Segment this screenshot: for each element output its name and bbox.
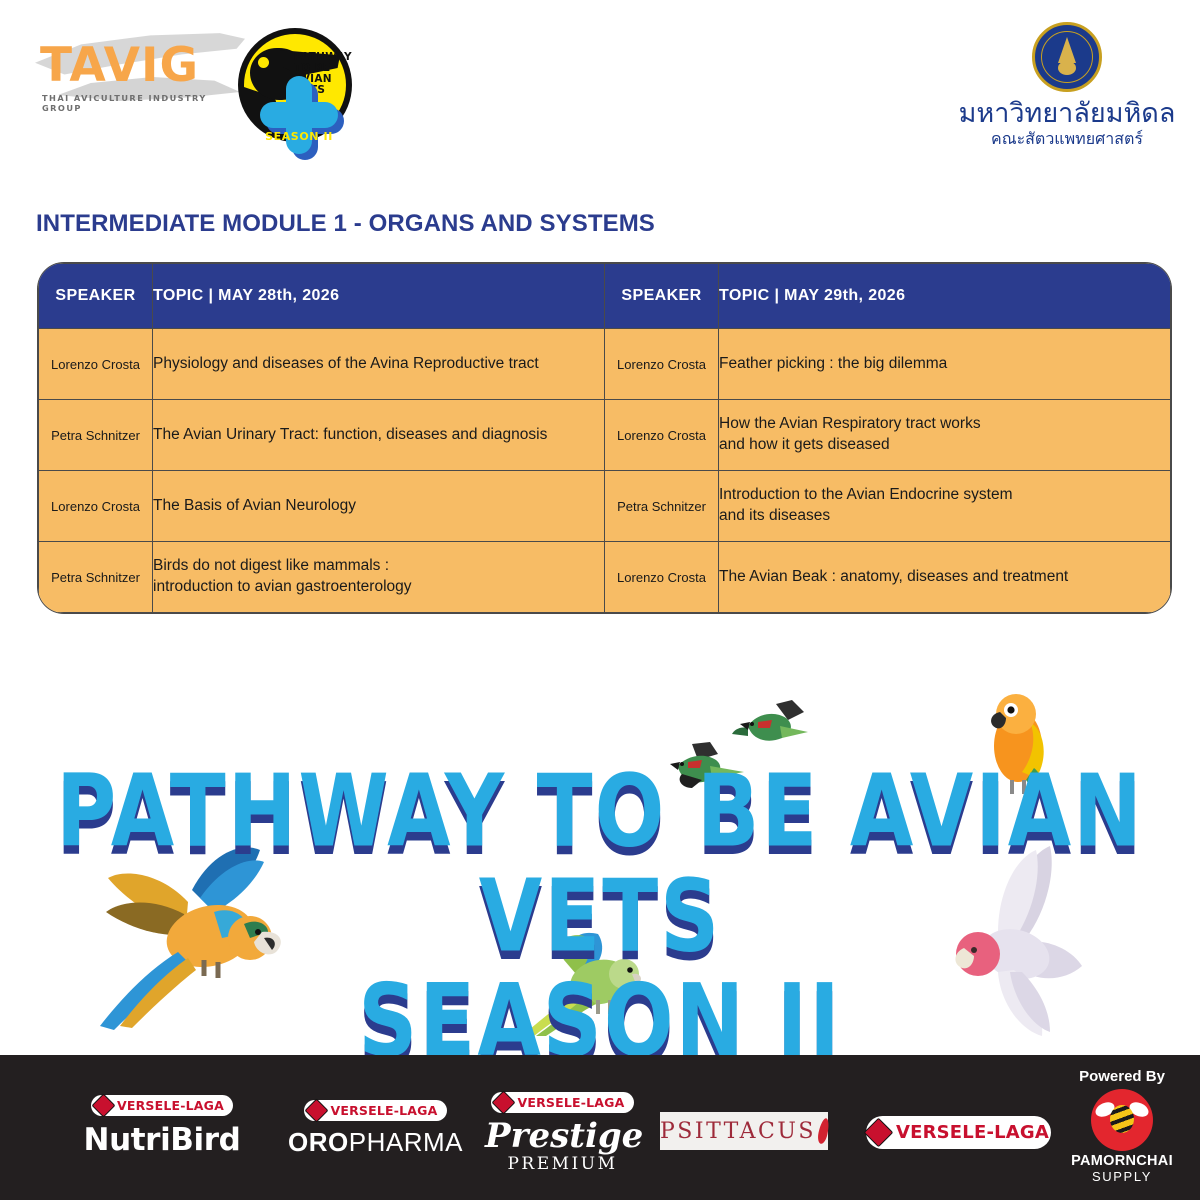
- versele-laga-label: VERSELE-LAGA: [517, 1095, 624, 1110]
- table-head: SPEAKER TOPIC | MAY 28th, 2026 SPEAKER T…: [39, 264, 1171, 329]
- pamornchai-name: PAMORNCHAI: [1058, 1153, 1186, 1169]
- tavig-tagline: THAI AVICULTURE INDUSTRY GROUP: [42, 93, 242, 113]
- table-row: Lorenzo Crosta Physiology and diseases o…: [39, 329, 1171, 400]
- header-logos: TAVIG THAI AVICULTURE INDUSTRY GROUP PAT…: [0, 0, 1200, 195]
- cell-topic-day1: Birds do not digest like mammals :introd…: [153, 542, 605, 613]
- tavig-wordmark: TAVIG: [40, 42, 240, 89]
- university-faculty: คณะสัตวแพทยศาสตร์: [952, 129, 1182, 148]
- schedule-table: SPEAKER TOPIC | MAY 28th, 2026 SPEAKER T…: [38, 263, 1171, 613]
- versele-laga-badge: VERSELE-LAGA: [91, 1095, 233, 1116]
- pathway-toucan-badge: PATHWAY TO BE AVIAN VETS SEASON II: [232, 24, 352, 174]
- cell-speaker-day2: Lorenzo Crosta: [605, 400, 719, 471]
- sponsor-nutribird: VERSELE-LAGA NutriBird: [72, 1095, 252, 1158]
- hero-title: PATHWAY TO BE AVIAN VETS SEASON II: [0, 760, 1200, 1075]
- nutribird-wordmark: NutriBird: [72, 1122, 252, 1158]
- versele-laga-label: VERSELE-LAGA: [117, 1098, 224, 1113]
- cell-speaker-day2: Lorenzo Crosta: [605, 542, 719, 613]
- powered-by-label: Powered By: [1058, 1068, 1186, 1085]
- hero-title-line-1: PATHWAY TO BE AVIAN VETS: [56, 754, 1144, 975]
- table-row: Lorenzo Crosta The Basis of Avian Neurol…: [39, 471, 1171, 542]
- table-body: Lorenzo Crosta Physiology and diseases o…: [39, 329, 1171, 613]
- sponsor-prestige: VERSELE-LAGA Prestige PREMIUM: [485, 1092, 640, 1174]
- cell-topic-day2: Feather picking : the big dilemma: [719, 329, 1171, 400]
- versele-laga-diamond-icon: [492, 1090, 516, 1114]
- tavig-logo: TAVIG THAI AVICULTURE INDUSTRY GROUP: [40, 30, 240, 110]
- cell-topic-day2: The Avian Beak : anatomy, diseases and t…: [719, 542, 1171, 613]
- hero-artwork: PATHWAY TO BE AVIAN VETS SEASON II: [0, 640, 1200, 1060]
- page-title: INTERMEDIATE MODULE 1 - ORGANS AND SYSTE…: [36, 210, 655, 238]
- cell-speaker-day1: Petra Schnitzer: [39, 400, 153, 471]
- table-header-row: SPEAKER TOPIC | MAY 28th, 2026 SPEAKER T…: [39, 264, 1171, 329]
- toucan-eye-icon: [258, 57, 269, 68]
- table-row: Petra Schnitzer Birds do not digest like…: [39, 542, 1171, 613]
- oropharma-wordmark: OROPHARMA: [288, 1127, 463, 1158]
- versele-laga-badge: VERSELE-LAGA: [304, 1100, 446, 1121]
- cell-speaker-day1: Petra Schnitzer: [39, 542, 153, 613]
- prestige-wordmark: Prestige: [485, 1118, 640, 1154]
- poster-page: TAVIG THAI AVICULTURE INDUSTRY GROUP PAT…: [0, 0, 1200, 1200]
- cell-topic-day1: The Basis of Avian Neurology: [153, 471, 605, 542]
- column-header-speaker-day2: SPEAKER: [605, 264, 719, 329]
- column-header-topic-day1: TOPIC | MAY 28th, 2026: [153, 264, 605, 329]
- versele-laga-label: VERSELE-LAGA: [896, 1122, 1049, 1143]
- cell-speaker-day1: Lorenzo Crosta: [39, 329, 153, 400]
- versele-laga-diamond-icon: [91, 1093, 115, 1117]
- oropharma-bold-part: ORO: [288, 1127, 349, 1157]
- mahidol-seal-icon: [1032, 22, 1102, 92]
- sponsor-oropharma: VERSELE-LAGA OROPHARMA: [288, 1100, 463, 1158]
- table-row: Petra Schnitzer The Avian Urinary Tract:…: [39, 400, 1171, 471]
- versele-laga-diamond-icon: [305, 1098, 329, 1122]
- badge-season-label: SEASON II: [262, 130, 336, 143]
- cell-topic-day2: How the Avian Respiratory tract worksand…: [719, 400, 1171, 471]
- versele-laga-badge: VERSELE-LAGA: [491, 1092, 633, 1113]
- cell-speaker-day2: Lorenzo Crosta: [605, 329, 719, 400]
- cell-speaker-day1: Lorenzo Crosta: [39, 471, 153, 542]
- oropharma-light-part: PHARMA: [349, 1127, 463, 1157]
- cell-speaker-day2: Petra Schnitzer: [605, 471, 719, 542]
- column-header-topic-day2: TOPIC | MAY 29th, 2026: [719, 264, 1171, 329]
- powered-by-pamornchai: Powered By PAMORNCHAI SUPPLY: [1058, 1068, 1186, 1184]
- versele-laga-label: VERSELE-LAGA: [330, 1103, 437, 1118]
- cell-topic-day1: Physiology and diseases of the Avina Rep…: [153, 329, 605, 400]
- sponsor-psittacus: PSITTACUS: [660, 1112, 828, 1150]
- cell-topic-day2: Introduction to the Avian Endocrine syst…: [719, 471, 1171, 542]
- university-name: มหาวิทยาลัยมหิดล: [952, 98, 1182, 129]
- pamornchai-supply-label: SUPPLY: [1058, 1169, 1186, 1184]
- psittacus-wordmark: PSITTACUS: [660, 1119, 816, 1144]
- prestige-premium-label: PREMIUM: [485, 1154, 640, 1174]
- bee-icon: [1091, 1089, 1153, 1151]
- column-header-speaker-day1: SPEAKER: [39, 264, 153, 329]
- sponsor-versele-laga: VERSELE-LAGA: [866, 1116, 1051, 1149]
- cell-topic-day1: The Avian Urinary Tract: function, disea…: [153, 400, 605, 471]
- mahidol-university-logo: มหาวิทยาลัยมหิดล คณะสัตวแพทยศาสตร์: [952, 22, 1182, 148]
